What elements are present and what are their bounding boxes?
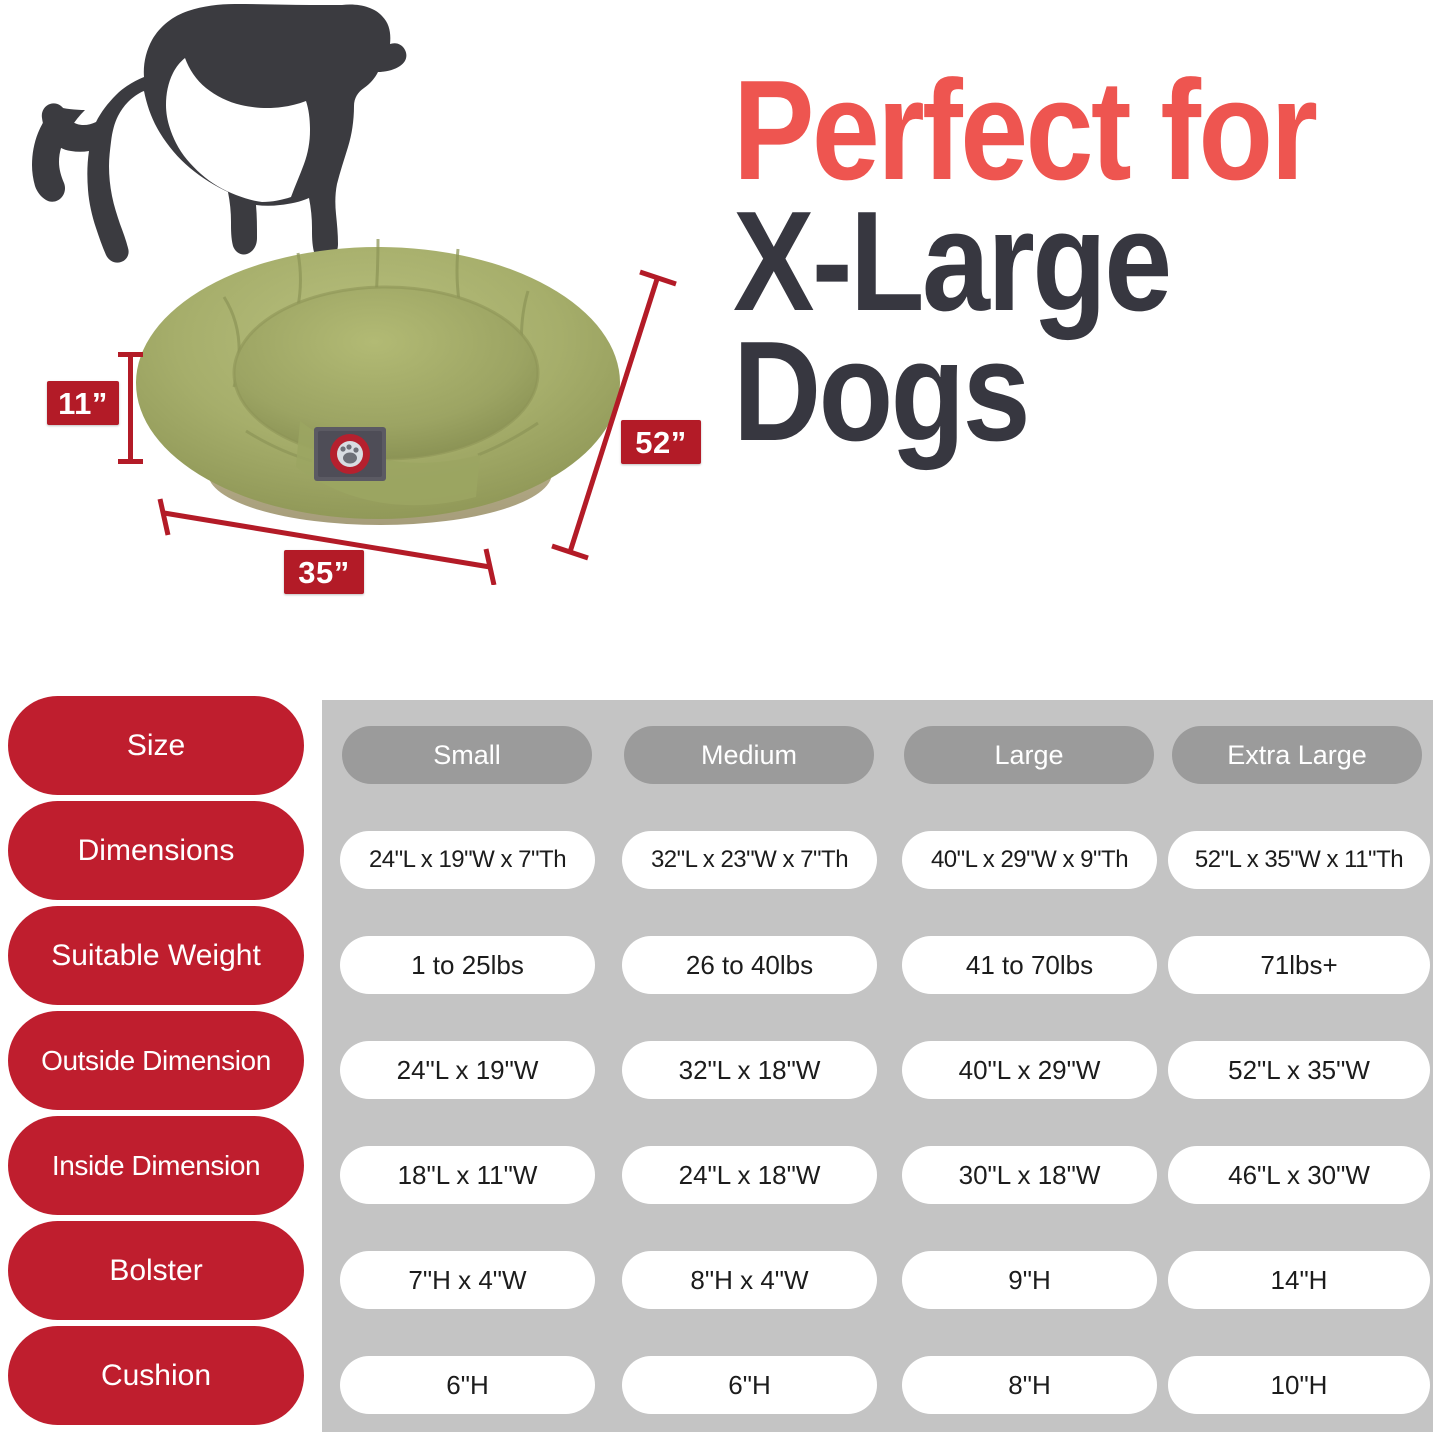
column-header-extra-large: Extra Large bbox=[1172, 726, 1422, 784]
table-cell: 24"L x 19"W bbox=[340, 1041, 595, 1099]
brand-tag bbox=[314, 427, 386, 481]
table-cell: 52"L x 35"W bbox=[1168, 1041, 1430, 1099]
row-label-dimensions: Dimensions bbox=[8, 801, 304, 900]
table-cell: 24"L x 18"W bbox=[622, 1146, 877, 1204]
table-cell: 46"L x 30"W bbox=[1168, 1146, 1430, 1204]
row-label-bolster: Bolster bbox=[8, 1221, 304, 1320]
table-cell: 32"L x 18"W bbox=[622, 1041, 877, 1099]
row-label-suitable-weight: Suitable Weight bbox=[8, 906, 304, 1005]
table-cell: 8"H x 4"W bbox=[622, 1251, 877, 1309]
table-cell: 52"L x 35"W x 11"Th bbox=[1168, 831, 1430, 889]
table-cell: 18"L x 11"W bbox=[340, 1146, 595, 1204]
column-header-large: Large bbox=[904, 726, 1154, 784]
table-cell: 1 to 25lbs bbox=[340, 936, 595, 994]
table-cell: 7"H x 4"W bbox=[340, 1251, 595, 1309]
table-cell: 40"L x 29"W bbox=[902, 1041, 1157, 1099]
dimension-badge-width: 35” bbox=[284, 550, 364, 594]
page-title: Perfect for X-Large Dogs bbox=[733, 66, 1439, 458]
row-label-outside-dimension: Outside Dimension bbox=[8, 1011, 304, 1110]
table-cell: 8"H bbox=[902, 1356, 1157, 1414]
headline-line-3: Dogs bbox=[733, 327, 1340, 458]
table-cell: 24"L x 19"W x 7"Th bbox=[340, 831, 595, 889]
headline-line-1: Perfect for bbox=[733, 66, 1340, 197]
height-dimension-line bbox=[118, 352, 142, 464]
hero-section: 11” 52” 35” Perfect for X-Large Dogs bbox=[0, 0, 1445, 690]
table-cell: 40"L x 29"W x 9"Th bbox=[902, 831, 1157, 889]
table-cell: 6"H bbox=[622, 1356, 877, 1414]
dimension-badge-height: 11” bbox=[47, 381, 119, 425]
headline-line-2: X-Large bbox=[733, 197, 1340, 328]
length-dimension-line bbox=[548, 258, 678, 570]
column-header-small: Small bbox=[342, 726, 592, 784]
table-cell: 26 to 40lbs bbox=[622, 936, 877, 994]
row-label-column: Size Dimensions Suitable Weight Outside … bbox=[0, 690, 322, 1432]
table-cell: 41 to 70lbs bbox=[902, 936, 1157, 994]
table-cell: 10"H bbox=[1168, 1356, 1430, 1414]
table-cell: 71lbs+ bbox=[1168, 936, 1430, 994]
row-label-inside-dimension: Inside Dimension bbox=[8, 1116, 304, 1215]
table-cell: 32"L x 23"W x 7"Th bbox=[622, 831, 877, 889]
table-cell: 9"H bbox=[902, 1251, 1157, 1309]
size-chart-table: Size Dimensions Suitable Weight Outside … bbox=[0, 690, 1445, 1432]
dimension-badge-length: 52” bbox=[621, 420, 701, 464]
table-cell: 6"H bbox=[340, 1356, 595, 1414]
row-label-size: Size bbox=[8, 696, 304, 795]
column-header-medium: Medium bbox=[624, 726, 874, 784]
row-label-cushion: Cushion bbox=[8, 1326, 304, 1425]
table-cell: 30"L x 18"W bbox=[902, 1146, 1157, 1204]
table-cell: 14"H bbox=[1168, 1251, 1430, 1309]
